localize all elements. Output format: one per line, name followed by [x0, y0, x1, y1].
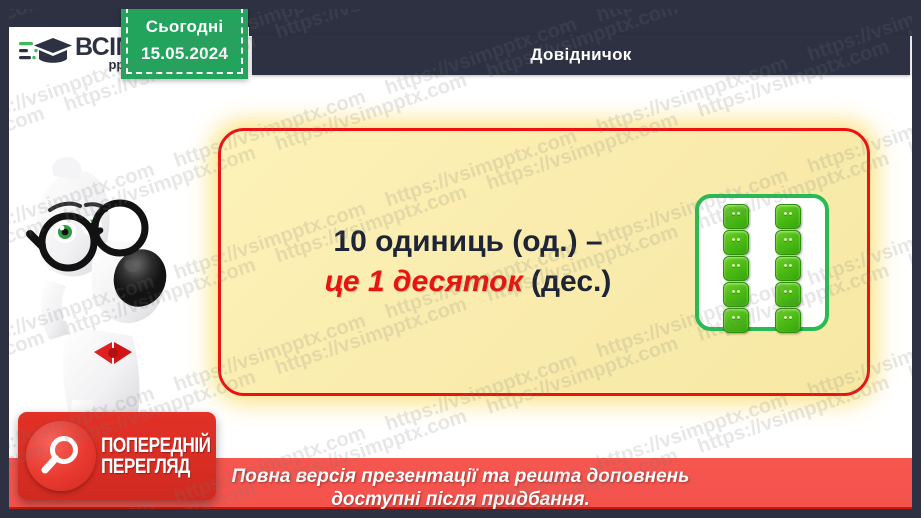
definition-line-2: це 1 десяток (дес.) — [245, 262, 691, 302]
date-badge-label: Сьогодні — [146, 14, 224, 40]
unit-cube — [723, 256, 749, 281]
unit-cube — [775, 204, 801, 229]
unit-cube — [775, 282, 801, 307]
unit-cube — [723, 308, 749, 333]
slide-canvas: ВСІМ pptx Сьогодні 15.05.2024 Довідничок — [0, 0, 921, 518]
unit-cube — [723, 204, 749, 229]
definition-text: 10 одиниць (од.) – це 1 десяток (дес.) — [221, 222, 695, 301]
graduation-cap-icon — [17, 33, 73, 73]
unit-cube — [723, 282, 749, 307]
slide-title-bar: Довідничок — [252, 35, 910, 75]
unit-cube — [775, 230, 801, 255]
preview-badge-line-1: ПОПЕРЕДНІЙ — [101, 435, 211, 456]
cartoon-dog-character — [8, 150, 208, 435]
tens-frame — [695, 194, 829, 331]
definition-card: 10 одиниць (од.) – це 1 десяток (дес.) — [218, 128, 870, 396]
unit-cube — [775, 308, 801, 333]
magnifier-icon — [26, 421, 96, 491]
definition-line-2-rest: (дес.) — [523, 265, 612, 298]
purchase-notice-line-2: доступні після придбання. — [331, 488, 590, 511]
preview-badge-line-2: ПЕРЕГЛЯД — [101, 456, 211, 477]
unit-cube — [723, 230, 749, 255]
today-date-badge: Сьогодні 15.05.2024 — [121, 2, 248, 79]
definition-line-1: 10 одиниць (од.) – — [245, 222, 691, 262]
definition-highlight: це 1 десяток — [325, 265, 523, 298]
page-title: Довідничок — [530, 45, 631, 65]
unit-cube — [775, 256, 801, 281]
date-badge-value: 15.05.2024 — [141, 41, 228, 67]
purchase-notice-line-1: Повна версія презентації та решта доповн… — [232, 465, 690, 488]
preview-badge[interactable]: ПОПЕРЕДНІЙ ПЕРЕГЛЯД — [18, 412, 216, 500]
